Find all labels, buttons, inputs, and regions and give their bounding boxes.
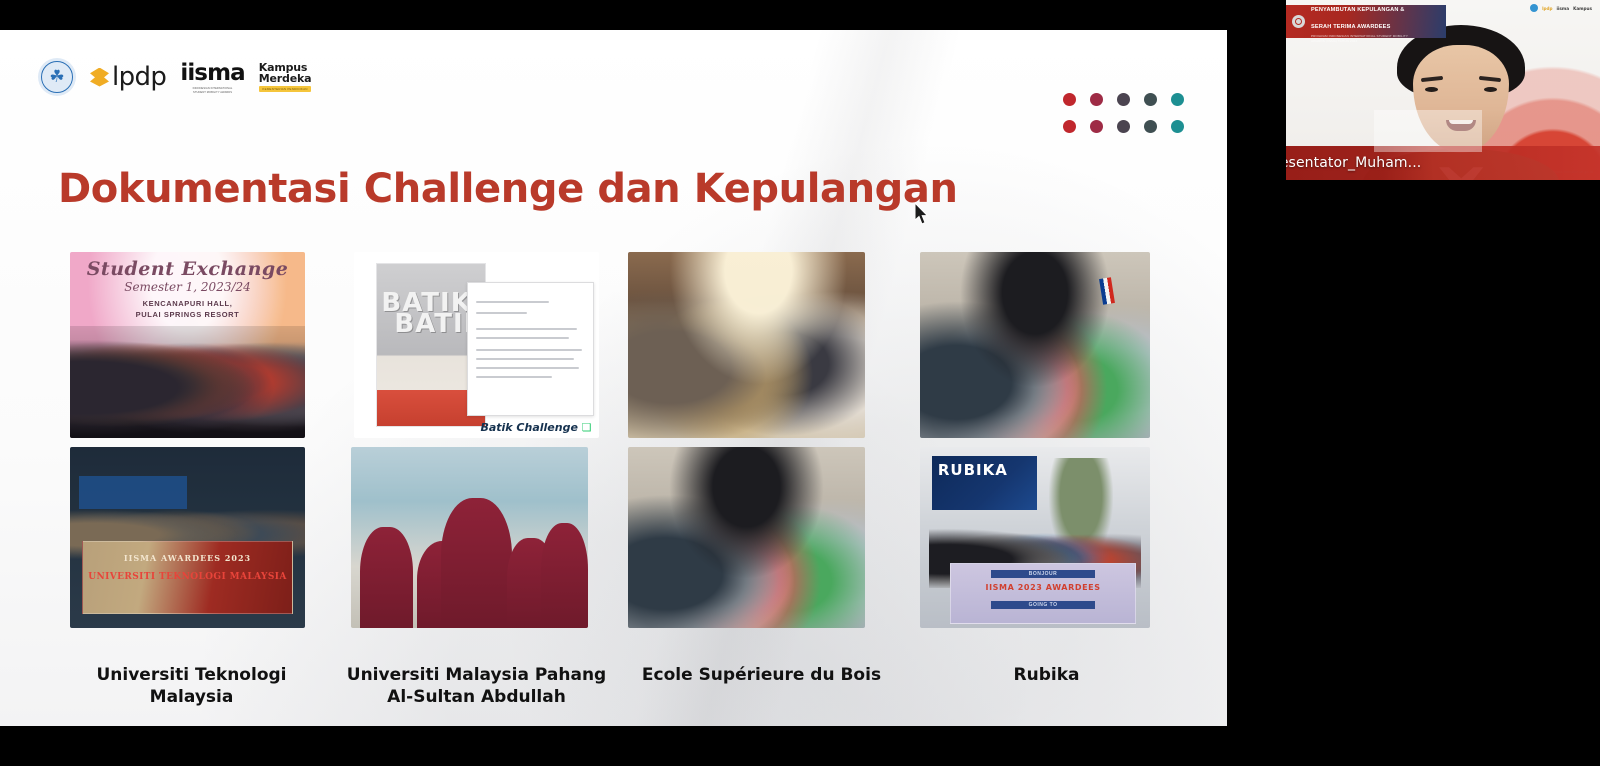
banner-line1: IISMA AWARDEES 2023 (83, 553, 293, 563)
iisma-mini-logo: iisma (1557, 6, 1570, 11)
slide-logo-row: ☘ lpdp iisma INDONESIAN INTERNATIONALSTU… (38, 58, 311, 96)
photo-overlay-title: Student Exchange (70, 258, 305, 280)
photo-column-1: Student Exchange Semester 1, 2023/24 KEN… (58, 252, 325, 708)
dot-1-2 (1090, 93, 1103, 106)
photo-column-4: RUBIKA BONJOUR IISMA 2023 AWARDEES GOING… (913, 252, 1180, 708)
slide-title: Dokumentasi Challenge dan Kepulangan (58, 166, 958, 212)
event-seal-icon (1292, 15, 1305, 28)
video-left-letterbox (1262, 0, 1286, 180)
lpdp-wordmark: lpdp (112, 62, 166, 92)
caption-university-4: Rubika (913, 664, 1180, 686)
dot-1-4 (1144, 93, 1157, 106)
lpdp-mini-logo: lpdp (1542, 6, 1552, 11)
video-corner-logos: lpdp iisma Kampus (1530, 4, 1592, 12)
dot-2-2 (1090, 120, 1103, 133)
kampus-merdeka-mini-logo: Kampus (1573, 6, 1592, 11)
leaf-icon: ❏ (582, 421, 592, 434)
photo-overlay-subtitle: Semester 1, 2023/24 (70, 280, 305, 294)
event-banner: PENYAMBUTAN KEPULANGAN & SERAH TERIMA AW… (1286, 5, 1446, 38)
decorative-dot-grid (1056, 86, 1191, 140)
photo-overlay-detail: KENCANAPURI HALL,PULAI SPRINGS RESORT (70, 299, 305, 321)
rubika-banner: BONJOUR IISMA 2023 AWARDEES GOING TO (950, 563, 1136, 625)
event-banner-subtitle: PROGRAM INDONESIAN INTERNATIONAL STUDENT… (1311, 34, 1408, 44)
lpdp-mark-icon (90, 68, 109, 87)
participant-video-tile[interactable]: PENYAMBUTAN KEPULANGAN & SERAH TERIMA AW… (1262, 0, 1600, 180)
caption-university-1: Universiti Teknologi Malaysia (58, 664, 325, 708)
photo-column-2: BATIK BATIK (343, 252, 610, 708)
rubika-banner-line2: GOING TO (991, 601, 1094, 609)
iisma-wordmark: iisma (180, 60, 244, 86)
photo-varsity-jackets[interactable] (351, 447, 588, 628)
dot-1-5 (1171, 93, 1184, 106)
rubika-sign: RUBIKA (932, 456, 1038, 510)
kemendikbud-logo: ☘ (38, 58, 76, 96)
photo-airport-selfie[interactable] (628, 447, 865, 628)
batik-brand-label: Batik Challenge ❏ (480, 421, 591, 434)
iisma-tagline: INDONESIAN INTERNATIONALSTUDENT MOBILITY… (193, 87, 233, 95)
dot-2-3 (1117, 120, 1130, 133)
dot-1-3 (1117, 93, 1130, 106)
caption-university-2: Universiti Malaysia PahangAl-Sultan Abdu… (343, 664, 610, 708)
batik-post-caption-card (467, 282, 594, 416)
french-flag-icon (1099, 277, 1115, 305)
iisma-banner: IISMA AWARDEES 2023 UNIVERSITI TEKNOLOGI… (82, 541, 294, 613)
rubika-banner-line0: BONJOUR (991, 570, 1094, 578)
photo-rubika-campus[interactable]: RUBIKA BONJOUR IISMA 2023 AWARDEES GOING… (920, 447, 1150, 628)
participant-name-label: Presentator_Muham... (1262, 153, 1429, 174)
rubika-banner-line1: IISMA 2023 AWARDEES (951, 583, 1135, 592)
video-glare-artifact (1374, 110, 1482, 152)
photo-column-3: Ecole Supérieure du Bois (628, 252, 895, 708)
kampus-merdeka-bar: KEMENTERIAN PENDIDIKAN (259, 86, 312, 92)
mouse-cursor (915, 203, 931, 225)
rubika-sign-text: RUBIKA (938, 461, 1008, 479)
screen-root: ☘ lpdp iisma INDONESIAN INTERNATIONALSTU… (0, 0, 1600, 766)
photo-airport-banner[interactable]: IISMA AWARDEES 2023 UNIVERSITI TEKNOLOGI… (70, 447, 305, 628)
event-banner-line2: SERAH TERIMA AWARDEES (1311, 24, 1391, 30)
photo-paris-station[interactable] (920, 252, 1150, 438)
photo-food-bazaar[interactable] (628, 252, 865, 438)
shared-screen-slide[interactable]: ☘ lpdp iisma INDONESIAN INTERNATIONALSTU… (0, 30, 1227, 726)
tut-wuri-handayani-icon: ☘ (49, 68, 64, 85)
event-banner-line1: PENYAMBUTAN KEPULANGAN & (1311, 7, 1405, 13)
photo-student-exchange[interactable]: Student Exchange Semester 1, 2023/24 KEN… (70, 252, 305, 438)
kemendikbud-icon (1530, 4, 1538, 12)
dot-1-1 (1063, 93, 1076, 106)
dot-2-5 (1171, 120, 1184, 133)
dot-2-1 (1063, 120, 1076, 133)
kampus-merdeka-line2: Merdeka (259, 73, 312, 84)
caption-university-3: Ecole Supérieure du Bois (628, 664, 895, 686)
lpdp-logo: lpdp (90, 62, 166, 92)
kampus-merdeka-logo: Kampus Merdeka KEMENTERIAN PENDIDIKAN (259, 62, 312, 92)
photo-batik-challenge[interactable]: BATIK BATIK (354, 252, 599, 438)
dot-2-4 (1144, 120, 1157, 133)
banner-line2: UNIVERSITI TEKNOLOGI MALAYSIA (83, 572, 293, 582)
photo-grid: Student Exchange Semester 1, 2023/24 KEN… (58, 252, 1178, 708)
iisma-logo: iisma INDONESIAN INTERNATIONALSTUDENT MO… (180, 60, 244, 95)
